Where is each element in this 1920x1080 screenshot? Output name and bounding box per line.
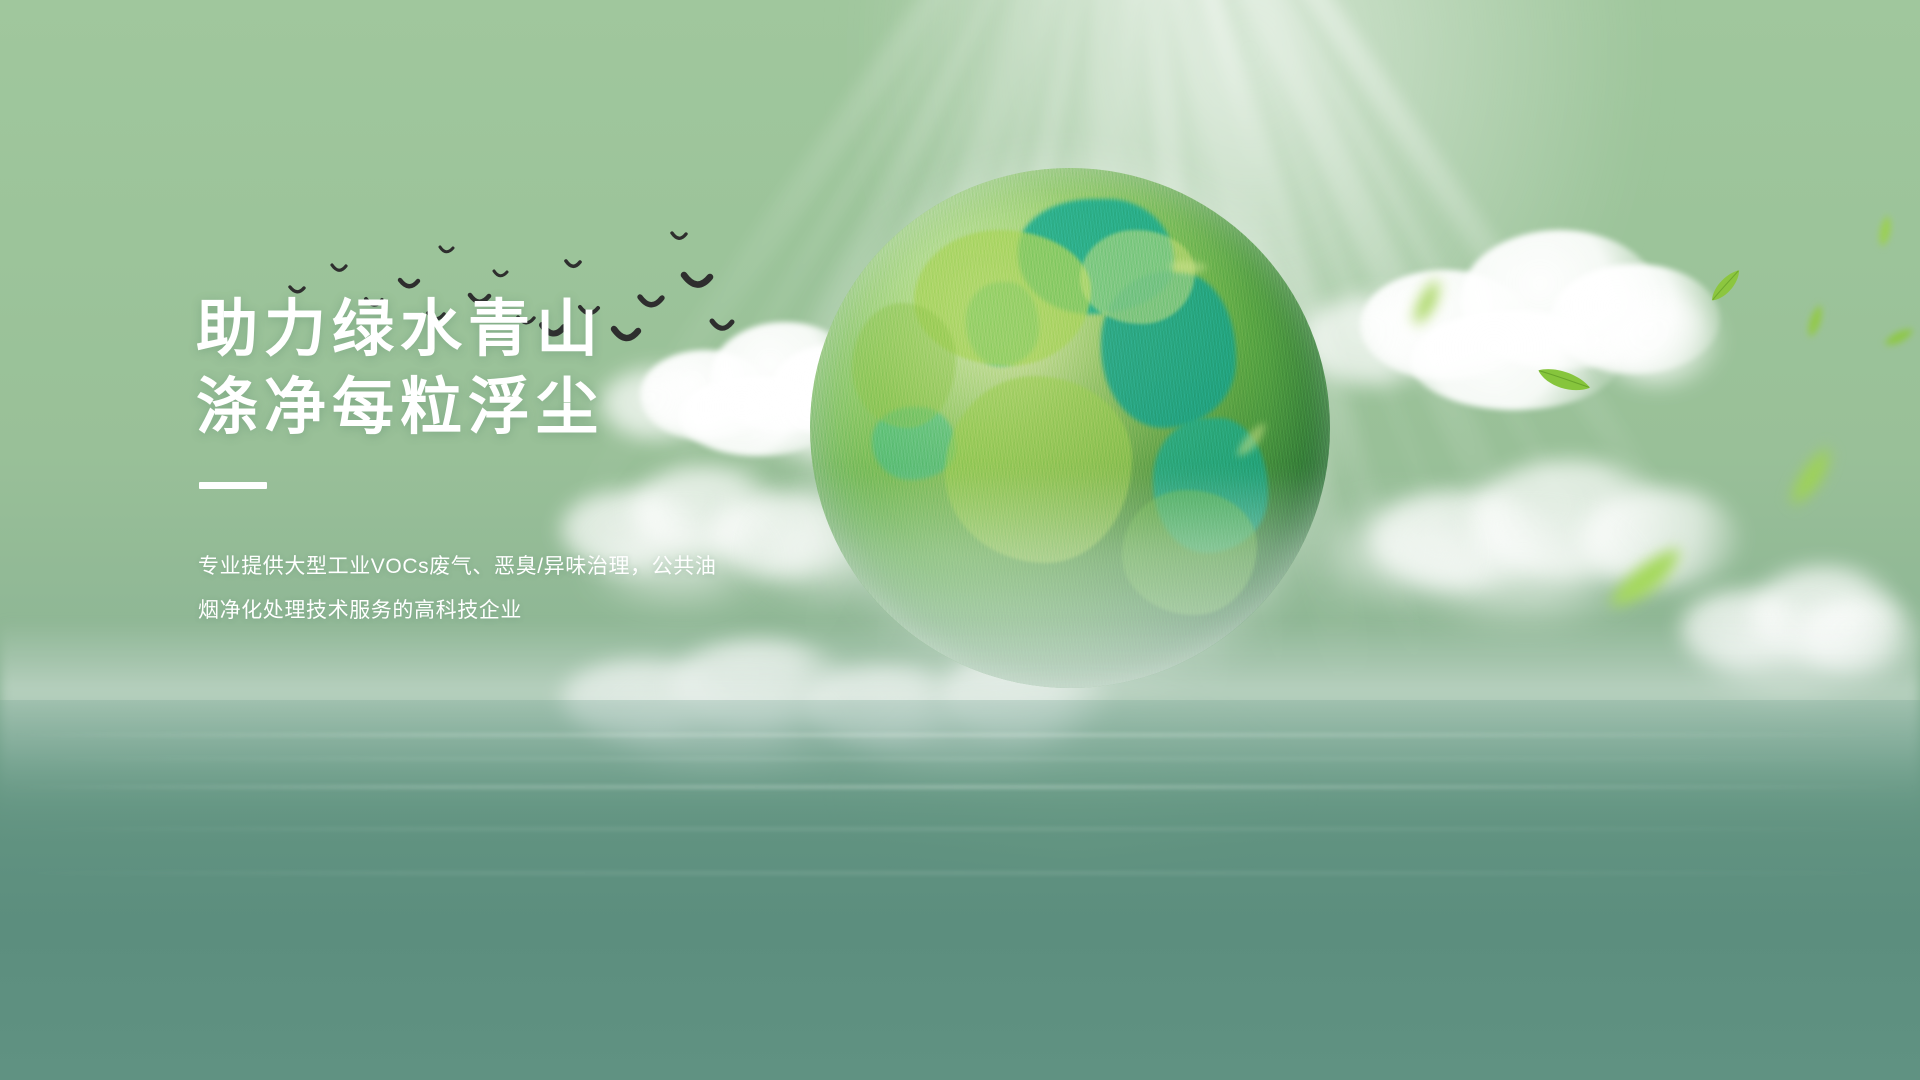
hero-subtitle: 专业提供大型工业VOCs废气、恶臭/异味治理，公共油烟净化处理技术服务的高科技企… [198, 545, 738, 633]
page-title: 助力绿水青山 涤净每粒浮尘 [196, 296, 896, 442]
hero-banner: 助力绿水青山 涤净每粒浮尘 专业提供大型工业VOCs废气、恶臭/异味治理，公共油… [0, 0, 1920, 1080]
headline-line-1: 助力绿水青山 [196, 295, 604, 364]
hero-copy: 助力绿水青山 涤净每粒浮尘 专业提供大型工业VOCs废气、恶臭/异味治理，公共油… [196, 296, 896, 633]
headline-line-2: 涤净每粒浮尘 [196, 374, 896, 442]
title-divider [199, 482, 267, 489]
water-surface [0, 700, 1920, 1080]
